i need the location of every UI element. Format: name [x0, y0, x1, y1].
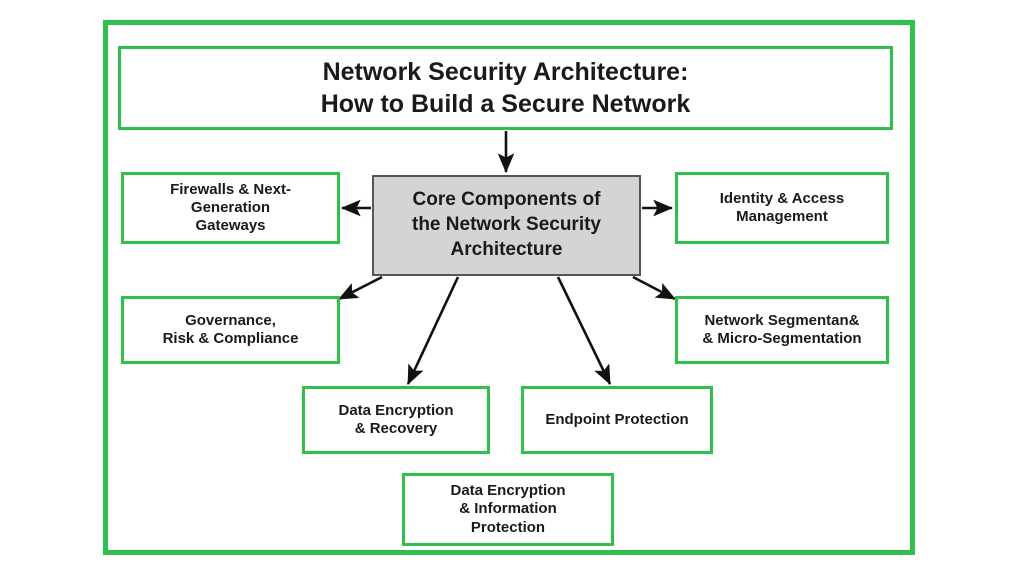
node-endpoint-label: Endpoint Protection: [539, 411, 694, 429]
diagram-title-text: Network Security Architecture: How to Bu…: [315, 56, 697, 120]
node-grc-label: Governance, Risk & Compliance: [157, 312, 305, 349]
hub-box-core-components: Core Components of the Network Security …: [372, 175, 641, 276]
node-iam-label: Identity & Access Management: [714, 190, 851, 227]
node-identity-access-management: Identity & Access Management: [675, 172, 889, 244]
node-governance-risk-compliance: Governance, Risk & Compliance: [121, 296, 340, 364]
node-network-segmentation: Network Segmentan& & Micro-Segmentation: [675, 296, 889, 364]
node-endpoint-protection: Endpoint Protection: [521, 386, 713, 454]
node-encryption-recovery-label: Data Encryption & Recovery: [332, 402, 459, 439]
diagram-canvas: Network Security Architecture: How to Bu…: [0, 0, 1024, 576]
node-firewalls-next-generation-gateways: Firewalls & Next- Generation Gateways: [121, 172, 340, 244]
node-segmentation-label: Network Segmentan& & Micro-Segmentation: [696, 312, 867, 349]
node-data-encryption-recovery: Data Encryption & Recovery: [302, 386, 490, 454]
node-info-protection-label: Data Encryption & Information Protection: [444, 482, 571, 537]
diagram-title-box: Network Security Architecture: How to Bu…: [118, 46, 893, 130]
hub-box-label: Core Components of the Network Security …: [406, 188, 607, 262]
node-data-encryption-information-protection: Data Encryption & Information Protection: [402, 473, 614, 546]
node-firewalls-label: Firewalls & Next- Generation Gateways: [164, 181, 297, 236]
